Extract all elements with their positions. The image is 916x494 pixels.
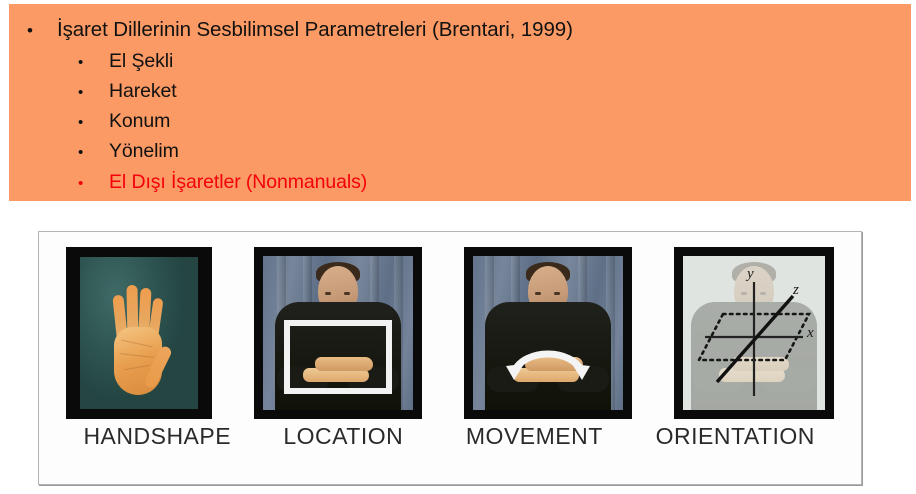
caption-orientation: ORIENTATION bbox=[634, 423, 837, 450]
location-highlight-box bbox=[284, 320, 392, 394]
bullet-panel: • İşaret Dillerinin Sesbilimsel Parametr… bbox=[9, 4, 911, 201]
caption-movement: MOVEMENT bbox=[435, 423, 633, 450]
slide-title-text: İşaret Dillerinin Sesbilimsel Parametrel… bbox=[57, 18, 573, 42]
open-palm-hand-icon bbox=[102, 279, 176, 399]
bullet-row-el-disi-isaretler: • El Dışı İşaretler (Nonmanuals) bbox=[78, 171, 367, 194]
bullet-dot-icon: • bbox=[78, 145, 109, 160]
axis-label-z: z bbox=[793, 282, 799, 299]
figure-panel-orientation: y z x bbox=[674, 247, 834, 419]
axis-label-y: y bbox=[747, 266, 754, 283]
figure-panel-strip: y z x HANDSHAPE LOCATION MOVEMENT ORIENT… bbox=[39, 232, 861, 484]
bullet-dot-icon: • bbox=[78, 176, 109, 191]
figure-panel-location bbox=[254, 247, 422, 419]
parameters-figure: y z x HANDSHAPE LOCATION MOVEMENT ORIENT… bbox=[38, 231, 862, 485]
orientation-photo: y z x bbox=[674, 247, 834, 419]
bullet-label-highlighted: El Dışı İşaretler (Nonmanuals) bbox=[109, 171, 367, 194]
handshape-photo-content bbox=[80, 257, 198, 409]
bullet-dot-icon: • bbox=[78, 85, 109, 100]
figure-photos-row: y z x bbox=[39, 232, 861, 419]
bullet-label: Yönelim bbox=[109, 140, 179, 163]
three-d-axes-icon bbox=[683, 256, 825, 410]
bullet-row-yonelim: • Yönelim bbox=[78, 140, 179, 163]
bullet-row-konum: • Konum bbox=[78, 110, 170, 133]
bullet-dot-icon: • bbox=[78, 55, 109, 70]
bullet-label: Hareket bbox=[109, 80, 177, 103]
bullet-dot-icon: • bbox=[78, 115, 109, 130]
bullet-row-hareket: • Hareket bbox=[78, 80, 177, 103]
figure-panel-handshape bbox=[66, 247, 212, 419]
location-photo-content bbox=[263, 256, 413, 410]
caption-location: LOCATION bbox=[252, 423, 436, 450]
caption-handshape: HANDSHAPE bbox=[63, 423, 252, 450]
figure-panel-movement bbox=[464, 247, 632, 419]
bullet-row-title: • İşaret Dillerinin Sesbilimsel Parametr… bbox=[27, 18, 573, 42]
location-photo bbox=[254, 247, 422, 419]
bullet-label: Konum bbox=[109, 110, 170, 133]
orientation-photo-content: y z x bbox=[683, 256, 825, 410]
movement-photo bbox=[464, 247, 632, 419]
movement-photo-content bbox=[473, 256, 623, 410]
bullet-dot-icon: • bbox=[27, 22, 57, 39]
movement-double-arrow-icon bbox=[502, 340, 594, 382]
figure-captions-row: HANDSHAPE LOCATION MOVEMENT ORIENTATION bbox=[39, 419, 861, 450]
axis-label-x: x bbox=[807, 325, 814, 342]
bullet-label: El Şekli bbox=[109, 50, 173, 73]
handshape-photo bbox=[66, 247, 212, 419]
bullet-row-el-sekli: • El Şekli bbox=[78, 50, 173, 73]
